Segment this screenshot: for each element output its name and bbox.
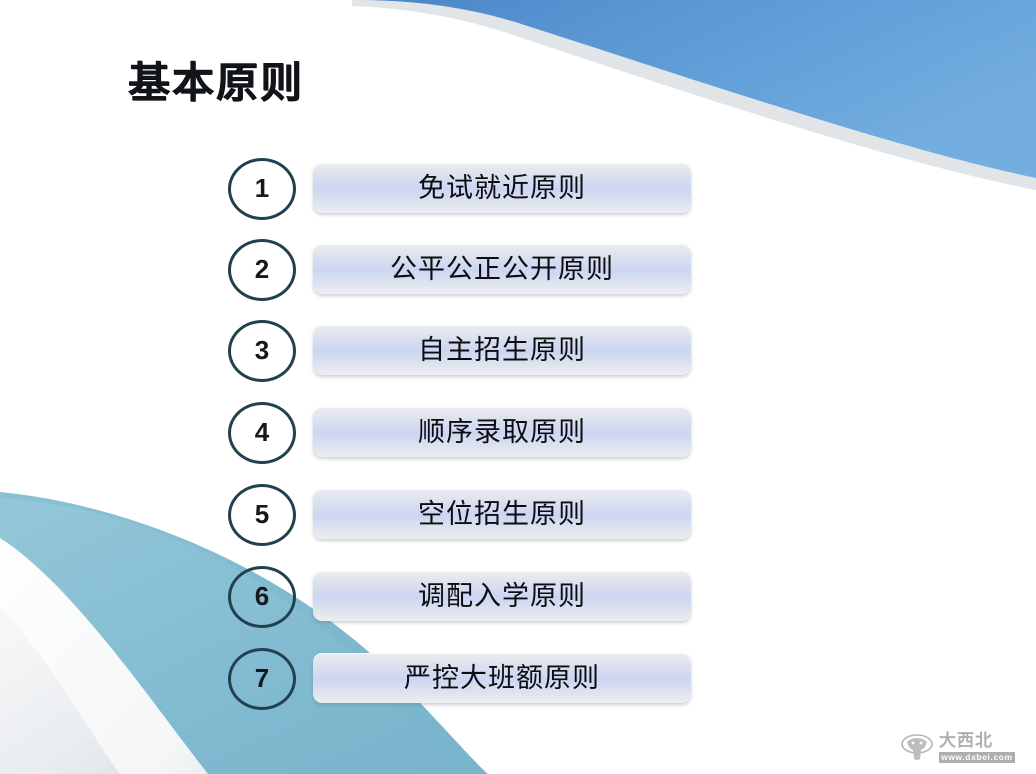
number-badge-label: 3 bbox=[255, 337, 269, 365]
principle-label: 严控大班额原则 bbox=[404, 665, 600, 692]
watermark-text: 大西北 www.dxbei.com bbox=[939, 733, 1015, 763]
number-badge-label: 4 bbox=[255, 419, 269, 447]
number-badge-label: 6 bbox=[255, 583, 269, 611]
principle-bar[interactable]: 严控大班额原则 bbox=[313, 653, 691, 703]
list-item[interactable]: 5 空位招生原则 bbox=[0, 484, 1036, 548]
principle-bar[interactable]: 自主招生原则 bbox=[313, 325, 691, 375]
number-badge: 1 bbox=[228, 158, 296, 220]
principle-bar[interactable]: 顺序录取原则 bbox=[313, 407, 691, 457]
principle-label: 空位招生原则 bbox=[418, 501, 586, 528]
list-item[interactable]: 4 顺序录取原则 bbox=[0, 402, 1036, 466]
watermark: 大西北 www.dxbei.com bbox=[900, 728, 1028, 768]
list-item[interactable]: 2 公平公正公开原则 bbox=[0, 239, 1036, 303]
principle-label: 调配入学原则 bbox=[418, 583, 586, 610]
principle-bar[interactable]: 调配入学原则 bbox=[313, 571, 691, 621]
principle-bar[interactable]: 免试就近原则 bbox=[313, 163, 691, 213]
watermark-url: www.dxbei.com bbox=[939, 752, 1015, 763]
list-item[interactable]: 6 调配入学原则 bbox=[0, 566, 1036, 630]
slide-canvas: 基本原则 1 免试就近原则 2 公平公正公开原则 3 自主招生原则 bbox=[0, 0, 1036, 774]
principle-bar[interactable]: 公平公正公开原则 bbox=[313, 244, 691, 294]
number-badge: 4 bbox=[228, 402, 296, 464]
principle-label: 自主招生原则 bbox=[418, 337, 586, 364]
list-item[interactable]: 1 免试就近原则 bbox=[0, 158, 1036, 222]
watermark-name: 大西北 bbox=[939, 733, 1015, 750]
elephant-logo-icon bbox=[900, 733, 934, 763]
list-item[interactable]: 7 严控大班额原则 bbox=[0, 648, 1036, 712]
number-badge-label: 5 bbox=[255, 501, 269, 529]
number-badge: 6 bbox=[228, 566, 296, 628]
number-badge-label: 1 bbox=[255, 175, 269, 203]
number-badge: 7 bbox=[228, 648, 296, 710]
number-badge-label: 2 bbox=[255, 256, 269, 284]
list-item[interactable]: 3 自主招生原则 bbox=[0, 320, 1036, 384]
number-badge: 3 bbox=[228, 320, 296, 382]
number-badge: 2 bbox=[228, 239, 296, 301]
principle-list: 1 免试就近原则 2 公平公正公开原则 3 自主招生原则 4 bbox=[0, 0, 1036, 774]
principle-bar[interactable]: 空位招生原则 bbox=[313, 489, 691, 539]
number-badge: 5 bbox=[228, 484, 296, 546]
principle-label: 公平公正公开原则 bbox=[390, 256, 614, 283]
principle-label: 顺序录取原则 bbox=[418, 419, 586, 446]
principle-label: 免试就近原则 bbox=[418, 175, 586, 202]
number-badge-label: 7 bbox=[255, 665, 269, 693]
